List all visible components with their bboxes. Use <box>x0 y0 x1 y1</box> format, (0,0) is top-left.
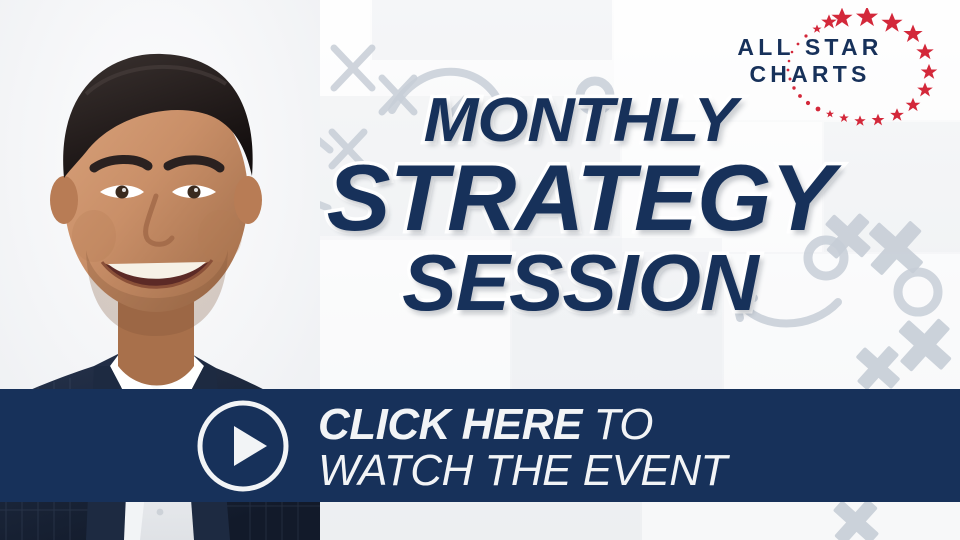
cta-click-here: CLICK HERE <box>318 400 582 449</box>
cta-line-1: CLICK HERE TO <box>318 403 727 446</box>
title-line-session: SESSION <box>274 245 886 320</box>
logo-line-2: CHARTS <box>730 61 890 88</box>
play-circle-icon[interactable] <box>196 399 290 493</box>
watch-event-cta-bar[interactable]: CLICK HERE TO WATCH THE EVENT <box>0 389 960 502</box>
cta-text: CLICK HERE TO WATCH THE EVENT <box>318 403 727 492</box>
cta-line-2: WATCH THE EVENT <box>318 449 727 492</box>
cta-to: TO <box>582 400 653 449</box>
title-line-monthly: MONTHLY <box>262 92 898 150</box>
title-line-strategy: STRATEGY <box>274 154 886 242</box>
logo-line-1: ALL STAR <box>730 34 890 61</box>
thumbnail-canvas: ALL STAR CHARTS MONTHLY STRATEGY SESSION… <box>0 0 960 540</box>
page-title: MONTHLY STRATEGY SESSION <box>280 92 880 320</box>
